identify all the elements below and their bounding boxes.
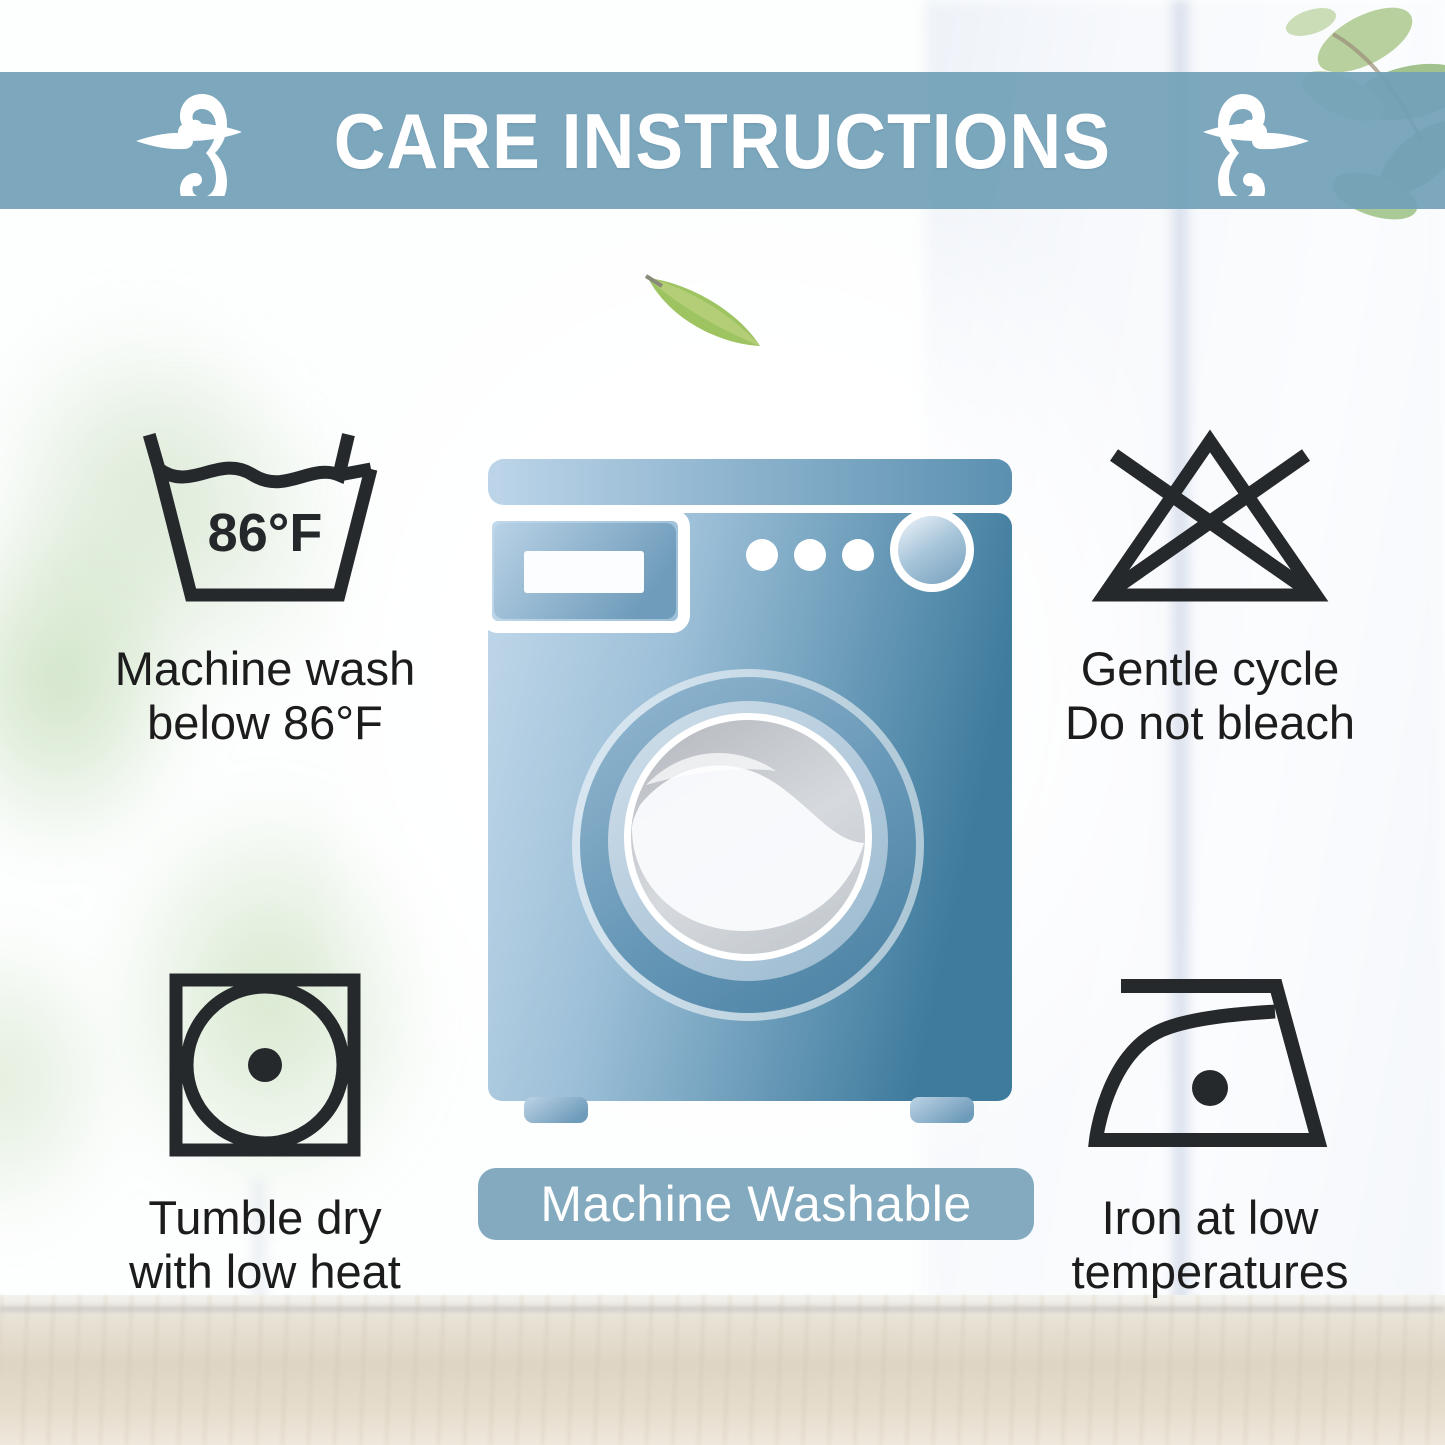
iron-one-dot-icon [975, 965, 1445, 1165]
wood-grain-texture [0, 1295, 1445, 1445]
care-symbol-caption: Iron at low temperatures [975, 1191, 1445, 1299]
table-edge-line [0, 1305, 1445, 1313]
care-symbol-caption: Tumble dry with low heat [30, 1191, 500, 1299]
wash-tub-icon: 86°F [30, 420, 500, 620]
care-instructions-infographic: CARE INSTRUCTIONS [0, 0, 1445, 1445]
wash-temperature-value: 86°F [208, 503, 323, 563]
care-symbol-tumble-dry: Tumble dry with low heat [30, 965, 500, 1299]
care-symbol-do-not-bleach: Gentle cycle Do not bleach [975, 420, 1445, 750]
bleach-triangle-crossed-icon [975, 420, 1445, 620]
machine-washable-badge: Machine Washable [478, 1168, 1034, 1240]
washing-machine-illustration [480, 445, 1020, 1125]
care-symbol-caption: Gentle cycle Do not bleach [975, 642, 1445, 750]
fleur-de-lis-left-icon [122, 86, 272, 196]
care-symbol-machine-wash: 86°F Machine wash below 86°F [30, 420, 500, 750]
green-leaf-icon [640, 268, 770, 358]
page-title: CARE INSTRUCTIONS [334, 102, 1111, 180]
fleur-de-lis-right-icon [1173, 86, 1323, 196]
tumble-dry-one-dot-icon [30, 965, 500, 1165]
care-symbol-caption: Machine wash below 86°F [30, 642, 500, 750]
care-symbol-iron-low: Iron at low temperatures [975, 965, 1445, 1299]
header-banner: CARE INSTRUCTIONS [0, 72, 1445, 209]
badge-label: Machine Washable [540, 1175, 971, 1233]
